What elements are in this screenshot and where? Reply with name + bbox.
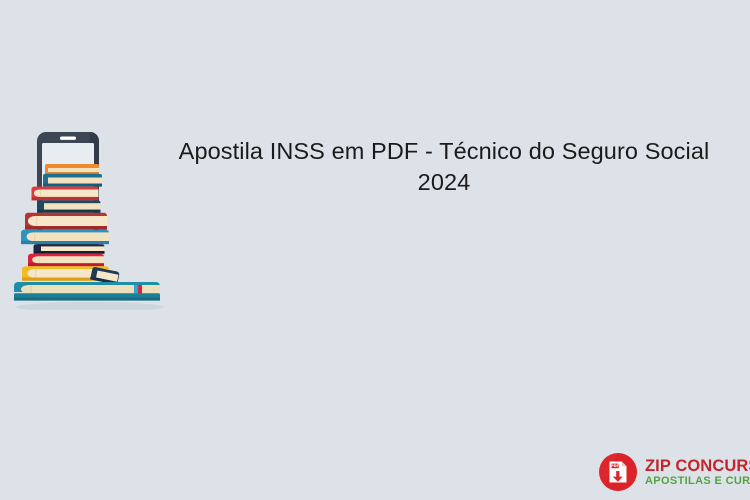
svg-text:PDF: PDF [611,464,619,468]
tablet-speaker-icon [60,137,76,140]
page-title-text: Apostila INSS em PDF - Técnico do Seguro… [168,136,720,198]
pdf-download-icon: PDF [598,452,638,492]
brand-wordmark: ZIP CONCURSOS APOSTILAS E CURSOS [645,457,750,488]
promo-banner: Apostila INSS em PDF - Técnico do Seguro… [0,0,750,500]
illustration-shadow [16,302,164,310]
book-crimson-mid [28,254,104,266]
book-orange-thin-top [45,164,99,175]
stack-of-books-with-tablet-illustration [12,128,168,310]
book-blue-wide [21,230,109,245]
book-red-upper [32,187,99,201]
bookmark-ribbon [134,285,142,294]
brand-primary-text: ZIP CONCURSOS [645,457,750,475]
book-darkred-large [25,213,107,230]
book-teal-bottom [14,282,160,301]
page-title: Apostila INSS em PDF - Técnico do Seguro… [168,136,720,198]
brand-secondary-text: APOSTILAS E CURSOS [645,475,750,488]
brand-logo[interactable]: PDF ZIP CONCURSOS APOSTILAS E CURSOS [598,450,744,494]
book-darknavy-slim [34,244,105,254]
book-teal-top [43,174,102,187]
book-navy-mid [38,200,101,212]
